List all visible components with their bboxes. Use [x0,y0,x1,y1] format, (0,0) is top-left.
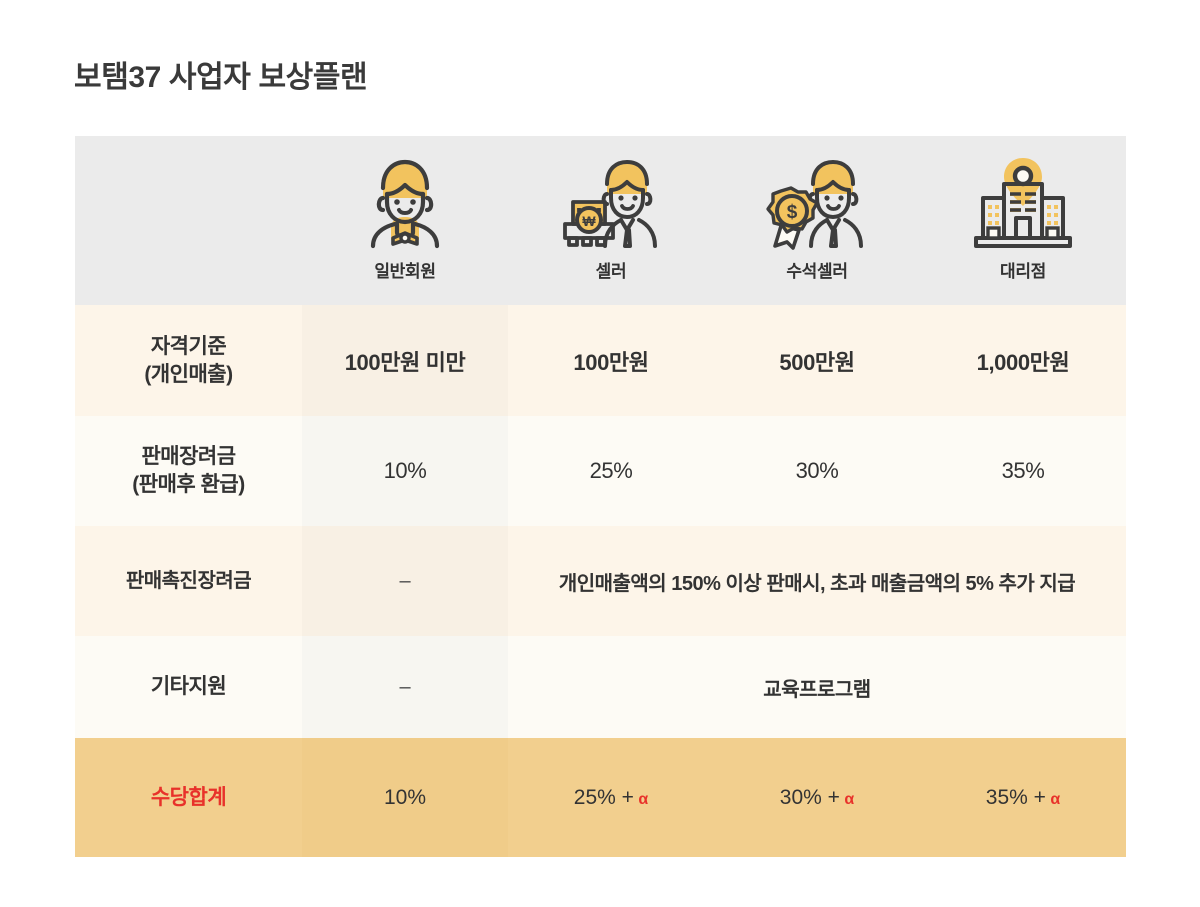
row-label-promotion-incentive: 판매촉진장려금 [75,526,302,636]
cell-promotion-incentive-member: – [302,526,508,636]
cell-total-member: 10% [302,738,508,857]
cell-sales-incentive-seller: 25% [508,416,714,526]
row-label-sales-incentive: 판매장려금 (판매후 환급) [75,416,302,526]
row-label-line1: 판매장려금 [75,443,302,471]
tier-label: 수석셀러 [786,257,847,282]
compensation-plan-page: 보탬37 사업자 보상플랜 [0,0,1200,907]
cell-sales-incentive-chief-seller: 30% [714,416,920,526]
svg-text:$: $ [787,202,798,223]
row-label-other-support: 기타지원 [75,636,302,738]
row-label-total-commission: 수당합계 [75,738,302,857]
tier-label: 일반회원 [374,257,435,282]
alpha-symbol: α [1050,791,1060,808]
chief-seller-award-icon: $ [765,154,869,250]
table-row-promotion-incentive: 판매촉진장려금 – 개인매출액의 150% 이상 판매시, 초과 매출금액의 5… [75,526,1126,636]
row-label-line2: (개인매출) [75,361,302,389]
page-title: 보탬37 사업자 보상플랜 [74,52,367,96]
cell-qualification-chief-seller: 500만원 [714,305,920,416]
cell-total-chief-seller: 30% + α [714,738,920,857]
header-tier-member: 일반회원 [302,136,508,305]
header-tier-agency: 대리점 [920,136,1126,305]
header-tier-chief-seller: $ 수석셀러 [714,136,920,305]
cell-promotion-incentive-merged: 개인매출액의 150% 이상 판매시, 초과 매출금액의 5% 추가 지급 [508,526,1126,636]
alpha-symbol: α [638,791,648,808]
row-label-line2: (판매후 환급) [75,471,302,499]
svg-text:₩: ₩ [582,213,596,229]
cell-sales-incentive-member: 10% [302,416,508,526]
cell-total-seller: 25% + α [508,738,714,857]
table-row-qualification: 자격기준 (개인매출) 100만원 미만 100만원 500만원 1,000만원 [75,305,1126,416]
member-avatar-icon [353,154,457,250]
compensation-plan-table: 일반회원 [75,136,1126,857]
row-label-line1: 수당합계 [75,784,302,812]
row-label-qualification: 자격기준 (개인매출) [75,305,302,416]
cell-qualification-seller: 100만원 [508,305,714,416]
cell-qualification-agency: 1,000만원 [920,305,1126,416]
table-header-row: 일반회원 [75,136,1126,305]
tier-label: 셀러 [596,257,627,282]
row-label-line1: 기타지원 [75,673,302,701]
tier-label: 대리점 [1000,257,1046,282]
agency-building-icon [971,154,1075,250]
cell-sales-incentive-agency: 35% [920,416,1126,526]
cell-other-support-merged: 교육프로그램 [508,636,1126,738]
seller-cashier-icon: ₩ [559,154,663,250]
table-row-sales-incentive: 판매장려금 (판매후 환급) 10% 25% 30% 35% [75,416,1126,526]
header-tier-seller: ₩ 셀러 [508,136,714,305]
cell-other-support-member: – [302,636,508,738]
row-label-line1: 판매촉진장려금 [75,568,302,594]
cell-qualification-member: 100만원 미만 [302,305,508,416]
table-row-total-commission: 수당합계 10% 25% + α 30% + α 35% + α [75,738,1126,857]
cell-total-agency: 35% + α [920,738,1126,857]
header-corner-cell [75,136,302,305]
alpha-symbol: α [844,791,854,808]
row-label-line1: 자격기준 [75,333,302,361]
table-row-other-support: 기타지원 – 교육프로그램 [75,636,1126,738]
